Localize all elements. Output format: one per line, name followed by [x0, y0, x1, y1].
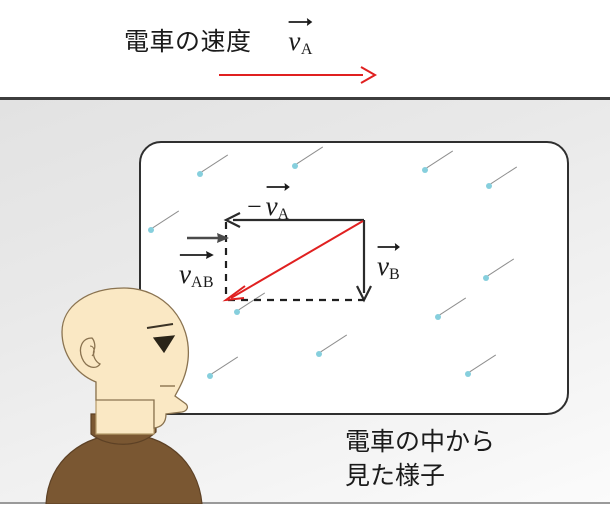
- page-title-text: 電車の速度: [124, 28, 252, 56]
- vector-symbol: v: [266, 191, 278, 221]
- slide-canvas: 電車の速度 vA: [0, 0, 610, 512]
- vector-vab-resultant: [226, 221, 363, 300]
- vector-glyph-minus-va: vA: [266, 193, 290, 223]
- vab-pointer-arrow: [185, 231, 231, 245]
- bottom-band: [0, 504, 610, 512]
- over-arrow-icon: [266, 181, 290, 191]
- vector-symbol: v: [377, 251, 389, 281]
- label-minus-va: − vA: [247, 193, 290, 223]
- label-vb: vB: [377, 253, 400, 283]
- over-arrow-icon: [377, 241, 400, 251]
- header-band: 電車の速度 vA: [0, 0, 610, 98]
- vector-subscript: B: [389, 266, 400, 283]
- vector-subscript: A: [278, 206, 290, 223]
- scene-caption: 電車の中から 見た様子: [345, 426, 495, 494]
- title-vector-va: vA: [288, 28, 312, 58]
- vector-symbol: v: [288, 26, 300, 56]
- minus-sign: −: [247, 192, 262, 221]
- vector-subscript: A: [301, 41, 313, 58]
- observer-figure: [36, 282, 226, 504]
- over-arrow-icon: [288, 16, 312, 26]
- vector-vb-line: [357, 220, 371, 300]
- over-arrow-icon: [179, 249, 214, 259]
- page-title: 電車の速度 vA: [124, 22, 313, 58]
- vector-glyph-va: vA: [288, 28, 312, 58]
- vector-glyph-vb: vB: [377, 253, 400, 283]
- train-velocity-arrow: [215, 60, 380, 90]
